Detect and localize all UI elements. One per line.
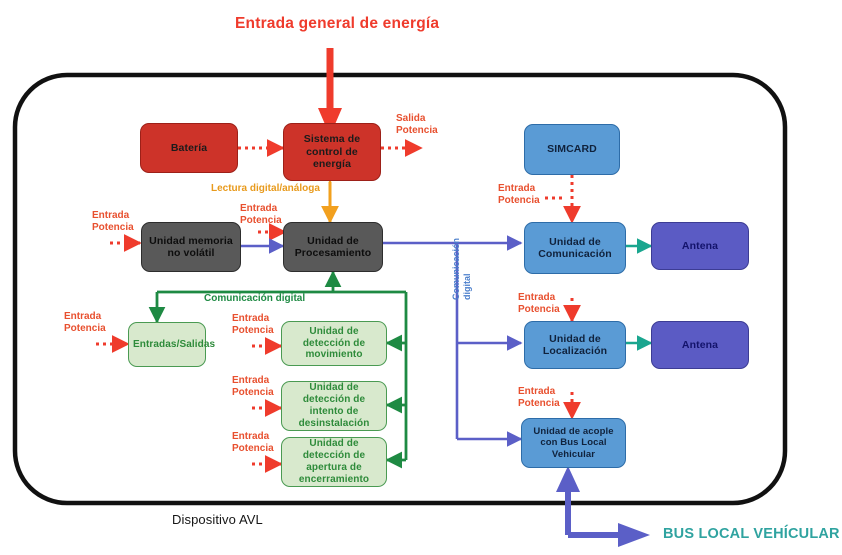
block-sistema-control-energia-label: Sistema de control de energía [288, 133, 376, 170]
block-unidad-deteccion-encerramiento[interactable]: Unidad de detección de apertura de encer… [281, 437, 387, 487]
block-unidad-procesamiento[interactable]: Unidad de Procesamiento [283, 222, 383, 272]
diagram-canvas: Entrada general de energía Batería Siste… [0, 0, 842, 555]
label-comunicacion-digital: Comunicación digital [204, 293, 305, 305]
block-unidad-comunicacion-label: Unidad de Comunicación [529, 236, 621, 261]
label-lectura-digital-analoga: Lectura digital/análoga [211, 183, 320, 195]
block-unidad-deteccion-desinstalacion[interactable]: Unidad de detección de intento de desins… [281, 381, 387, 431]
label-entrada-potencia-movimiento: Entrada Potencia [232, 313, 274, 337]
block-unidad-memoria-no-volatil[interactable]: Unidad memoria no volátil [141, 222, 241, 272]
title-entrada-general-energia: Entrada general de energía [235, 15, 439, 34]
block-sistema-control-energia[interactable]: Sistema de control de energía [283, 123, 381, 181]
block-antena-comunicacion[interactable]: Antena [651, 222, 749, 270]
label-entrada-potencia-localizacion: Entrada Potencia [518, 292, 560, 316]
label-entrada-potencia-simcard: Entrada Potencia [498, 183, 540, 207]
label-entrada-potencia-desinstalacion: Entrada Potencia [232, 375, 274, 399]
block-unidad-procesamiento-label: Unidad de Procesamiento [288, 235, 378, 260]
block-simcard-label: SIMCARD [529, 143, 615, 155]
block-unidad-deteccion-encerramiento-label: Unidad de detección de apertura de encer… [286, 438, 382, 485]
label-entrada-potencia-memoria: Entrada Potencia [92, 210, 134, 234]
enclosure-outline [15, 75, 785, 503]
diagram-connections [0, 0, 842, 555]
label-dispositivo-avl: Dispositivo AVL [172, 512, 263, 528]
label-comunicacion-digital-vertical: Comunicación digital [451, 238, 473, 300]
block-entradas-salidas-label: Entradas/Salidas [133, 339, 201, 351]
label-entrada-potencia-acople: Entrada Potencia [518, 386, 560, 410]
block-unidad-deteccion-movimiento[interactable]: Unidad de detección de movimiento [281, 321, 387, 366]
label-entrada-potencia-entradas-salidas: Entrada Potencia [64, 311, 106, 335]
block-unidad-acople-bus-local-vehicular-label: Unidad de acople con Bus Local Vehicular [526, 426, 621, 460]
block-antena-localizacion[interactable]: Antena [651, 321, 749, 369]
block-unidad-deteccion-desinstalacion-label: Unidad de detección de intento de desins… [286, 382, 382, 429]
block-antena-comunicacion-label: Antena [656, 240, 744, 252]
label-bus-local-vehicular: BUS LOCAL VEHÍCULAR [663, 526, 840, 544]
block-bateria[interactable]: Batería [140, 123, 238, 173]
label-salida-potencia: Salida Potencia [396, 113, 438, 137]
block-unidad-memoria-no-volatil-label: Unidad memoria no volátil [146, 235, 236, 260]
label-entrada-potencia-encerramiento: Entrada Potencia [232, 431, 274, 455]
block-unidad-comunicacion[interactable]: Unidad de Comunicación [524, 222, 626, 274]
block-entradas-salidas[interactable]: Entradas/Salidas [128, 322, 206, 367]
block-unidad-acople-bus-local-vehicular[interactable]: Unidad de acople con Bus Local Vehicular [521, 418, 626, 468]
block-antena-localizacion-label: Antena [656, 339, 744, 351]
block-unidad-deteccion-movimiento-label: Unidad de detección de movimiento [286, 326, 382, 361]
label-entrada-potencia-procesamiento: Entrada Potencia [240, 203, 282, 227]
block-unidad-localizacion-label: Unidad de Localización [529, 333, 621, 358]
block-bateria-label: Batería [145, 142, 233, 154]
block-unidad-localizacion[interactable]: Unidad de Localización [524, 321, 626, 369]
block-simcard[interactable]: SIMCARD [524, 124, 620, 175]
